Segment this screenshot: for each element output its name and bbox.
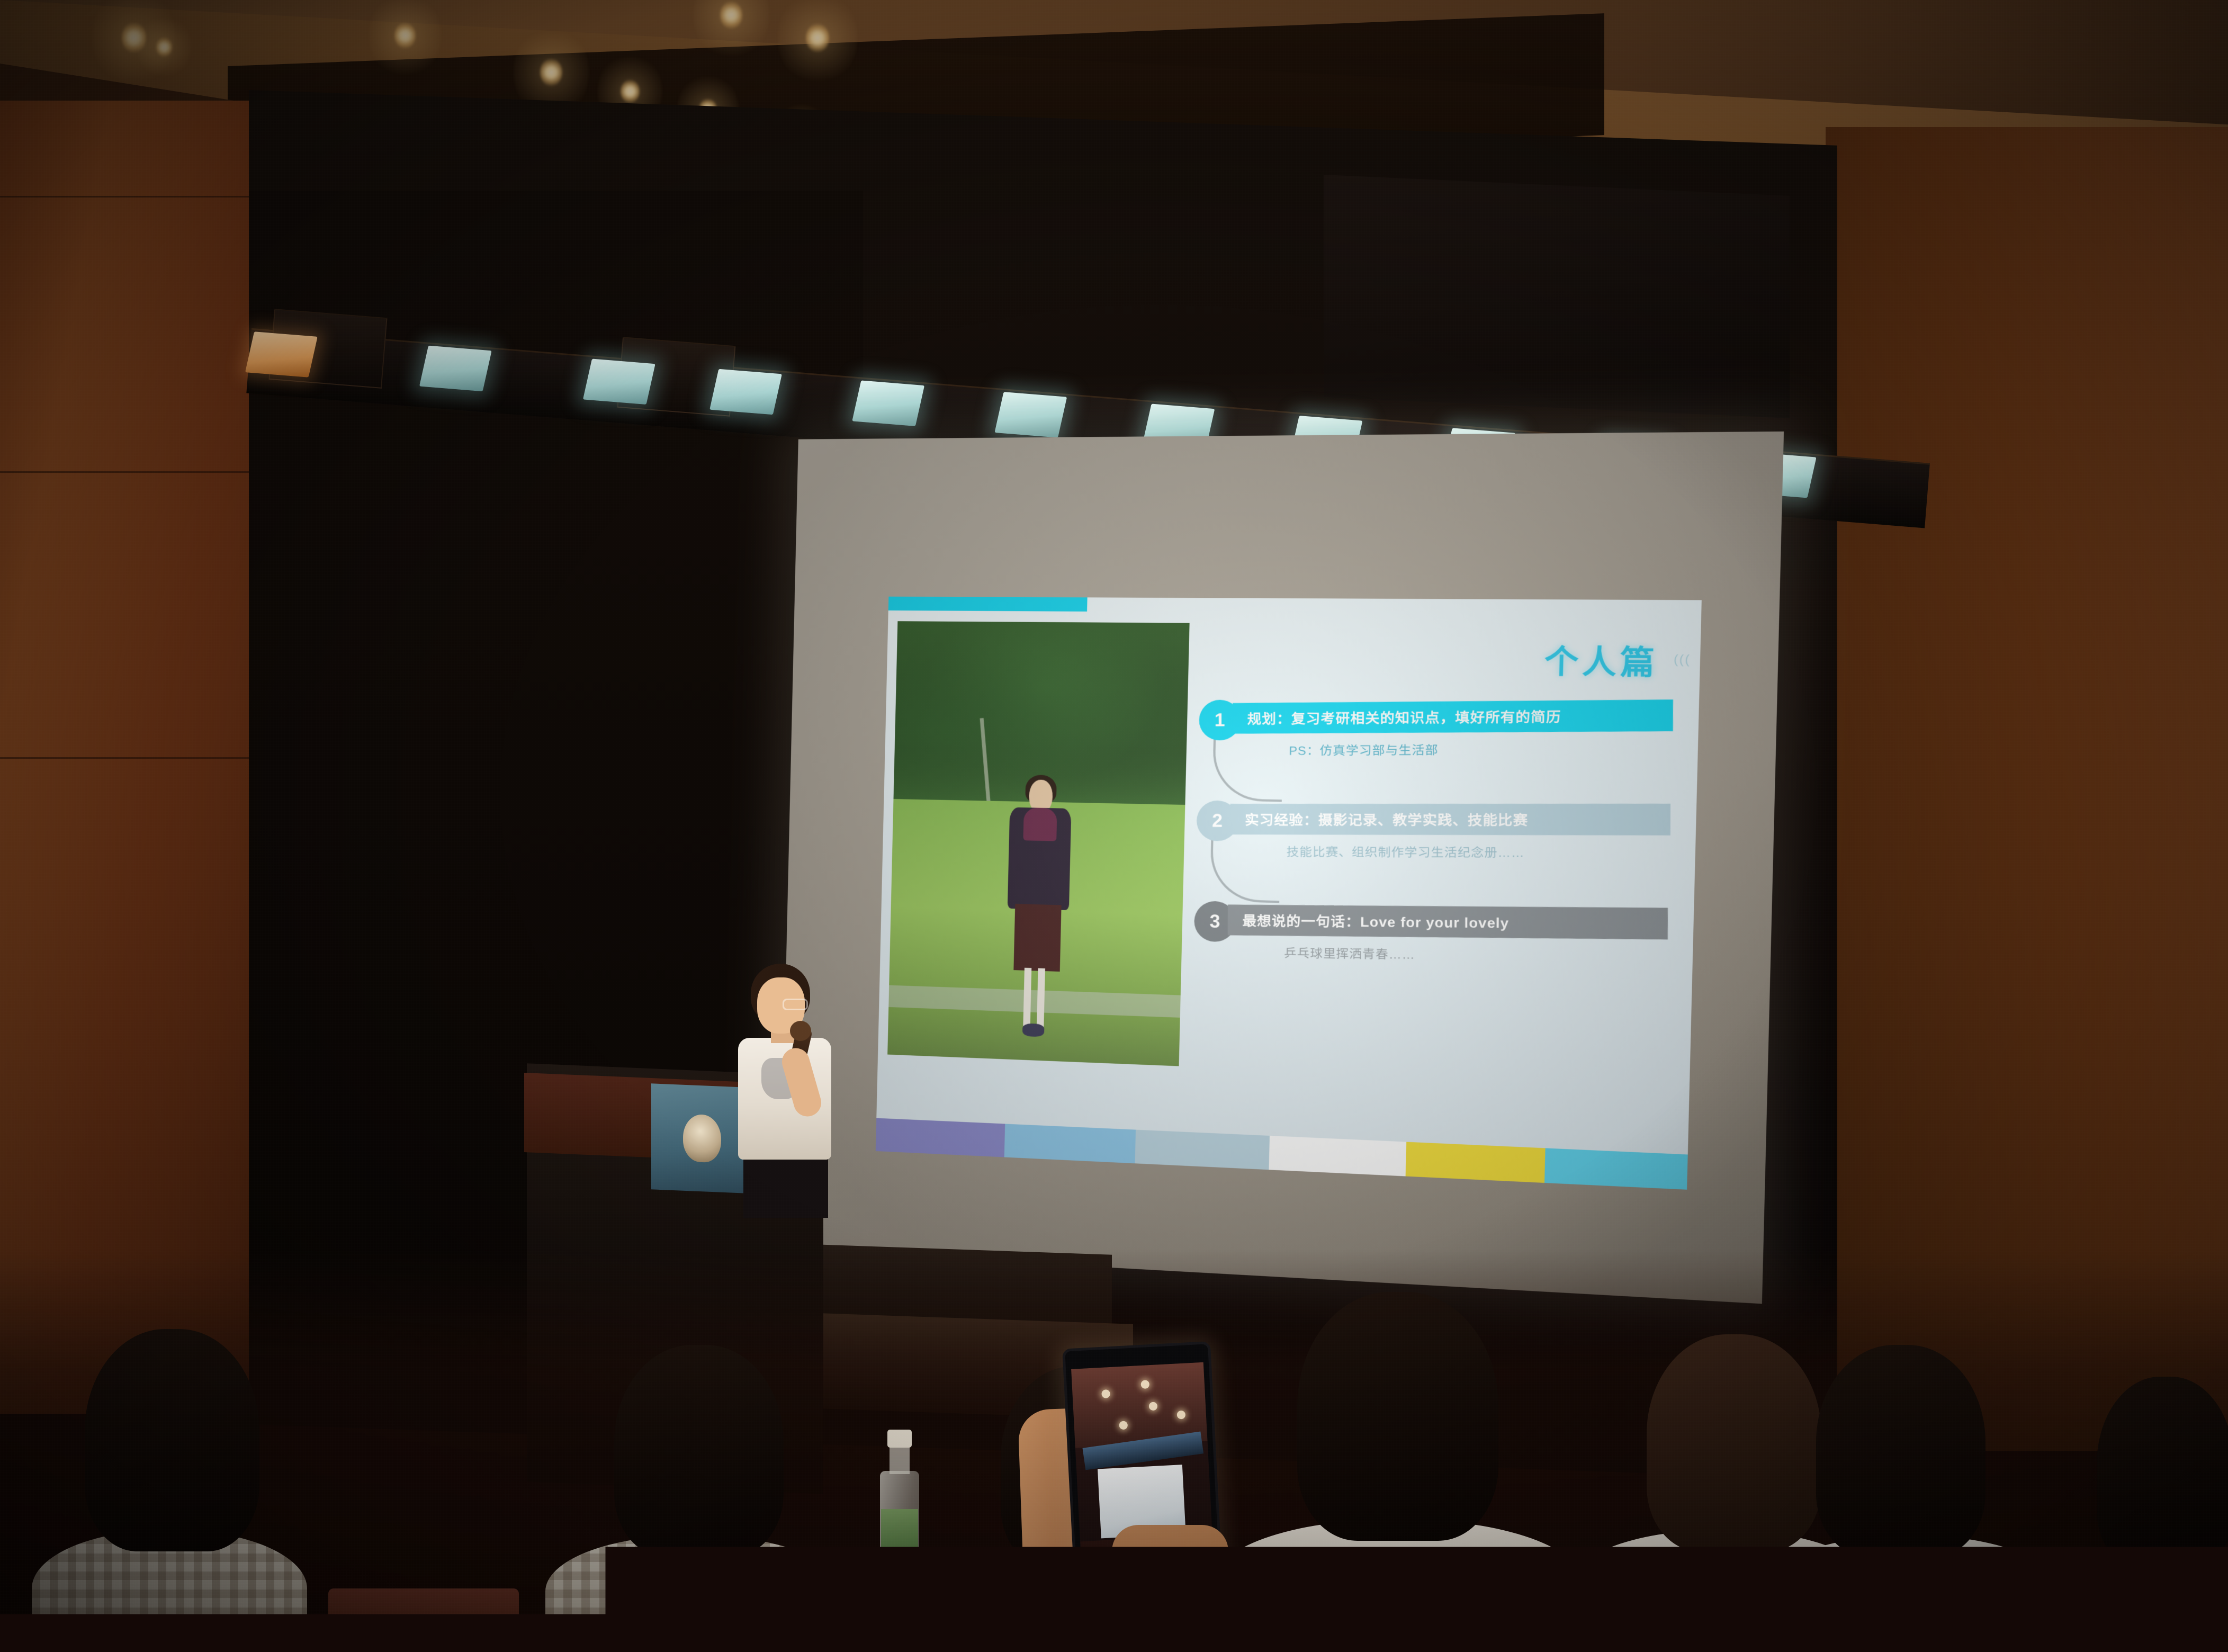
stage-spotlight	[852, 380, 924, 426]
stage-spotlight	[245, 331, 318, 377]
wall-left-wood	[0, 101, 275, 1414]
footer-color-swatch	[876, 1118, 1005, 1157]
slide-step-2: 2 实习经验：摄影记录、教学实践、技能比赛 技能比赛、组织制作学习生活纪念册……	[1197, 799, 1686, 884]
bottle-label	[881, 1509, 918, 1567]
presenter	[720, 964, 852, 1218]
step-heading: 最想说的一句话：Love for your lovely	[1228, 905, 1668, 940]
audience-head	[614, 1345, 784, 1557]
audience-head	[85, 1329, 259, 1551]
microphone-head	[790, 1021, 811, 1041]
eyeglasses	[783, 999, 808, 1010]
footer-color-swatch	[1405, 1142, 1546, 1183]
ceiling-downlight	[540, 58, 562, 86]
stage-spotlight	[994, 392, 1067, 437]
hand-lower	[1112, 1525, 1228, 1652]
step-heading: 规划：复习考研相关的知识点，填好所有的简历	[1233, 699, 1673, 734]
ceiling-speaker-panel	[1324, 175, 1790, 418]
step-subtext: 技能比赛、组织制作学习生活纪念册……	[1287, 842, 1670, 861]
auditorium-photo: 个人篇 ((( 1 规划：复习考研相关的知识点，填好所有的简历 PS：仿真学习部…	[0, 0, 2228, 1652]
footer-color-swatch	[1544, 1148, 1687, 1189]
step-subtext: 乒乓球里挥洒青春……	[1284, 944, 1668, 965]
stage-spotlight	[419, 346, 492, 391]
audience-head	[1647, 1334, 1821, 1551]
photo-graduate-figure	[1003, 779, 1074, 1035]
footer-color-swatch	[1269, 1136, 1406, 1177]
slide-steps-diagram: 1 规划：复习考研相关的知识点，填好所有的简历 PS：仿真学习部与生活部 2 实…	[1192, 694, 1690, 1040]
seat-back	[328, 1588, 519, 1652]
stage-spotlight	[709, 369, 782, 415]
audience-head	[2097, 1377, 2228, 1567]
slide-footer-color-bar	[876, 1118, 1688, 1190]
slide-title-decoration: (((	[1674, 652, 1691, 667]
stage-spotlight	[583, 359, 655, 405]
footer-color-swatch	[1135, 1130, 1270, 1170]
audience-head	[1297, 1292, 1498, 1541]
ceiling-downlight	[394, 22, 416, 49]
slide-accent-bar	[888, 597, 1088, 612]
slide-title: 个人篇	[1544, 635, 1659, 684]
water-bottle	[879, 1430, 920, 1588]
slide-step-1: 1 规划：复习考研相关的知识点，填好所有的简历 PS：仿真学习部与生活部	[1199, 695, 1688, 781]
ceiling-downlight	[156, 37, 172, 57]
footer-color-swatch	[1004, 1124, 1136, 1163]
screen-surface: 个人篇 ((( 1 规划：复习考研相关的知识点，填好所有的简历 PS：仿真学习部…	[779, 432, 1784, 1304]
slide-step-3: 3 最想说的一句话：Love for your lovely 乒乓球里挥洒青春……	[1194, 900, 1683, 989]
presentation-slide: 个人篇 ((( 1 规划：复习考研相关的知识点，填好所有的简历 PS：仿真学习部…	[876, 597, 1702, 1190]
ceiling-downlight	[621, 79, 640, 103]
step-heading: 实习经验：摄影记录、教学实践、技能比赛	[1230, 804, 1670, 836]
slide-graduation-photo	[887, 621, 1190, 1066]
ceiling-downlight	[720, 1, 742, 29]
ceiling-downlight	[806, 23, 829, 52]
projection-screen: 个人篇 ((( 1 规划：复习考研相关的知识点，填好所有的简历 PS：仿真学习部…	[779, 432, 1784, 1304]
audience-head	[1816, 1345, 1986, 1557]
step-subtext: PS：仿真学习部与生活部	[1289, 739, 1673, 759]
